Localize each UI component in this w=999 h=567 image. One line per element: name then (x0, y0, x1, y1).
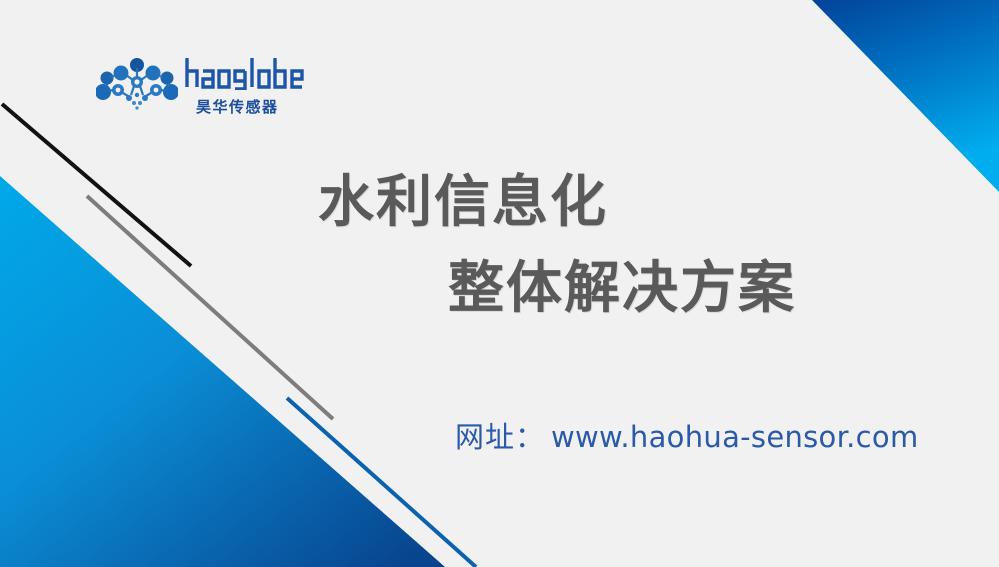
website-label: 网址： (455, 420, 545, 454)
slide-root: 昊华传感器 水利信息化 整体解决方案 网址：www.haohua-sensor.… (0, 0, 999, 567)
page-title: 水利信息化 整体解决方案 (0, 160, 999, 332)
title-line-1: 水利信息化 (318, 160, 999, 246)
haoglobe-network-dots-logo (96, 58, 178, 110)
website-url[interactable]: www.haohua-sensor.com (551, 420, 919, 454)
brand-chinese-name: 昊华传感器 (196, 96, 279, 117)
website-row: 网址：www.haohua-sensor.com (455, 420, 919, 455)
title-line-2: 整体解决方案 (448, 246, 999, 332)
haoglobe-wordmark (184, 56, 312, 90)
